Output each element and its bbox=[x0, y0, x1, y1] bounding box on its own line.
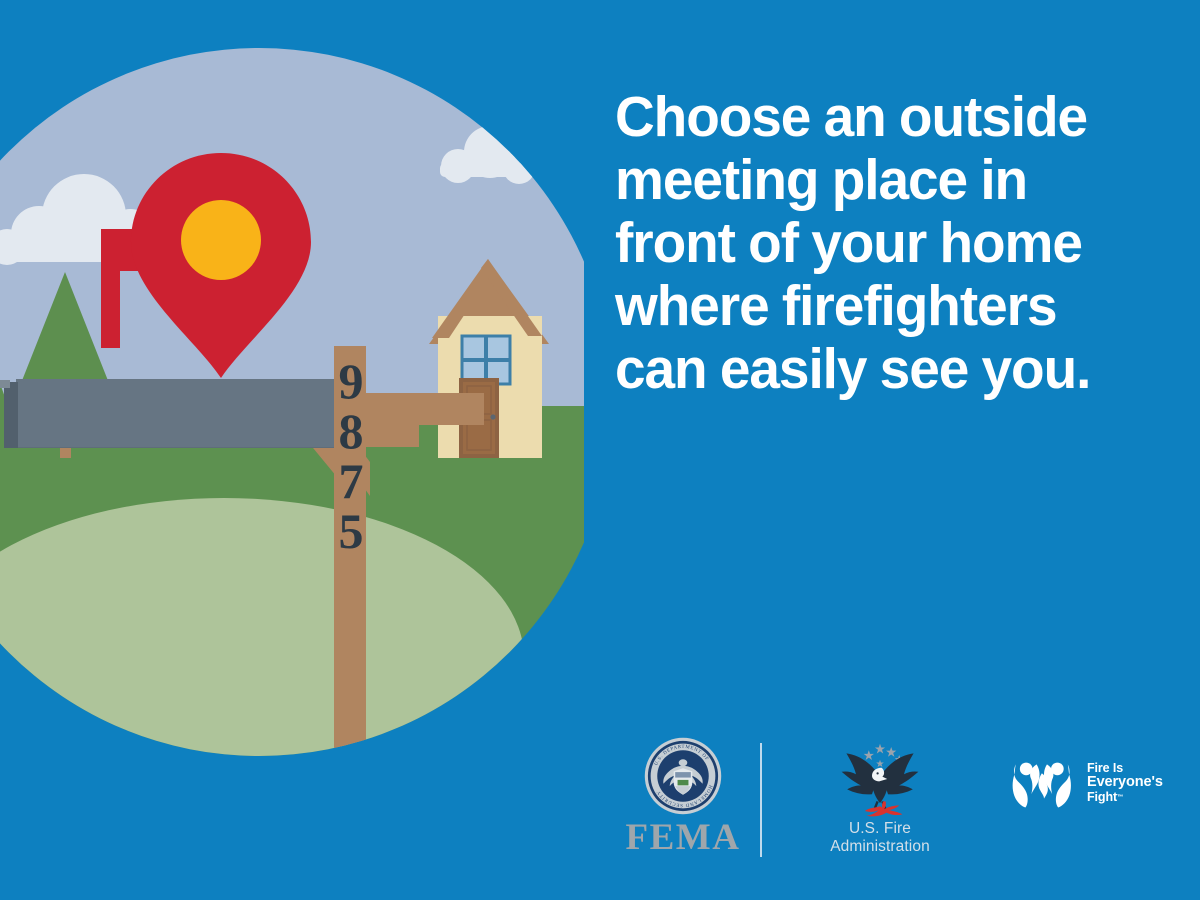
fief-line-2: Everyone's bbox=[1087, 775, 1163, 791]
trademark-symbol: ™ bbox=[1117, 794, 1124, 801]
address-digit: 7 bbox=[339, 453, 364, 509]
dhs-seal-icon: U.S. DEPARTMENT OF HOMELAND SECURITY bbox=[644, 737, 722, 815]
flame-icon bbox=[865, 801, 903, 816]
headline: Choose an outside meeting place in front… bbox=[615, 86, 1117, 401]
mailbox-body bbox=[0, 379, 334, 448]
two-figures-flame-icon bbox=[1008, 757, 1080, 809]
usfa-eagle-icon bbox=[832, 739, 928, 819]
fief-line-3: Fight™ bbox=[1087, 791, 1163, 805]
usfa-logo: U.S. Fire Administration bbox=[800, 739, 960, 856]
fema-logo: U.S. DEPARTMENT OF HOMELAND SECURITY FEM… bbox=[618, 737, 748, 857]
logo-bar: U.S. DEPARTMENT OF HOMELAND SECURITY FEM… bbox=[600, 735, 1180, 865]
address-digit: 8 bbox=[339, 403, 364, 459]
logo-divider bbox=[760, 743, 762, 857]
fief-line-3-text: Fight bbox=[1087, 790, 1117, 804]
mailbox-address-number: 9 8 7 5 bbox=[339, 353, 364, 559]
address-digit: 5 bbox=[339, 503, 364, 559]
address-digit: 9 bbox=[339, 353, 364, 409]
fire-is-everyones-fight-logo: Fire Is Everyone's Fight™ bbox=[1008, 757, 1188, 809]
usfa-wordmark: U.S. Fire Administration bbox=[800, 820, 960, 856]
scene-svg: 9 8 7 5 bbox=[0, 48, 584, 756]
illustration-circle: 9 8 7 5 bbox=[0, 48, 584, 756]
fief-line-1: Fire Is bbox=[1087, 762, 1163, 776]
fief-wordmark: Fire Is Everyone's Fight™ bbox=[1087, 762, 1163, 805]
usfa-line-1: U.S. Fire bbox=[800, 820, 960, 838]
fema-wordmark: FEMA bbox=[618, 819, 748, 857]
poster-canvas: 9 8 7 5 Choose an outside meeting place … bbox=[0, 0, 1200, 900]
usfa-line-2: Administration bbox=[800, 838, 960, 856]
